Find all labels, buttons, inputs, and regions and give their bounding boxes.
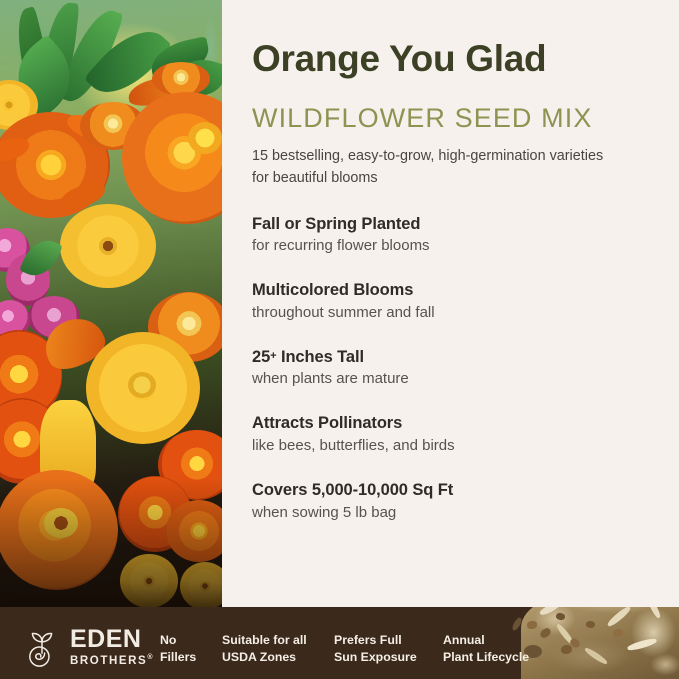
feature-item: Attracts Pollinators like bees, butterfl… bbox=[252, 414, 672, 456]
footer-item-line1: Suitable for all bbox=[222, 632, 307, 649]
footer-item-usda-zones: Suitable for all USDA Zones bbox=[222, 632, 307, 665]
footer-item-line2: USDA Zones bbox=[222, 649, 307, 666]
feature-title: Covers 5,000-10,000 Sq Ft bbox=[252, 481, 672, 501]
content-panel: Orange You Glad WILDFLOWER SEED MIX 15 b… bbox=[252, 0, 672, 522]
footer-soil-band: EDEN BROTHERS® No Fillers Suitable for a… bbox=[0, 607, 679, 679]
feature-item: Fall or Spring Planted for recurring flo… bbox=[252, 215, 672, 257]
seed bbox=[561, 645, 572, 654]
footer-item-no-fillers: No Fillers bbox=[160, 632, 196, 665]
feature-title: Attracts Pollinators bbox=[252, 414, 672, 434]
feature-subtitle: like bees, butterflies, and birds bbox=[252, 437, 672, 456]
flower-photo bbox=[0, 0, 222, 612]
page-title: Orange You Glad bbox=[252, 40, 672, 79]
logo-brand-secondary: BROTHERS® bbox=[70, 654, 154, 668]
footer-item-line1: Annual bbox=[443, 632, 529, 649]
logo-brand-secondary-text: BROTHERS bbox=[70, 655, 147, 667]
sprout-seedling-icon bbox=[22, 627, 62, 667]
feature-subtitle: when sowing 5 lb bag bbox=[252, 504, 672, 523]
feature-subtitle: when plants are mature bbox=[252, 370, 672, 389]
feature-item: 25+ Inches Tall when plants are mature bbox=[252, 348, 672, 390]
product-seed-mix-card: Orange You Glad WILDFLOWER SEED MIX 15 b… bbox=[0, 0, 679, 679]
registered-mark: ® bbox=[147, 654, 154, 661]
footer-item-line1: Prefers Full bbox=[334, 632, 417, 649]
footer-item-line2: Plant Lifecycle bbox=[443, 649, 529, 666]
photo-shadow bbox=[0, 0, 222, 612]
eden-brothers-logo[interactable]: EDEN BROTHERS® bbox=[22, 627, 154, 668]
footer-item-plant-lifecycle: Annual Plant Lifecycle bbox=[443, 632, 529, 665]
feature-title-number: 25 bbox=[252, 348, 270, 366]
feature-item: Covers 5,000-10,000 Sq Ft when sowing 5 … bbox=[252, 481, 672, 523]
footer-item-line2: Fillers bbox=[160, 649, 196, 666]
footer-item-line2: Sun Exposure bbox=[334, 649, 417, 666]
logo-wordmark: EDEN BROTHERS® bbox=[70, 627, 154, 668]
feature-item: Multicolored Blooms throughout summer an… bbox=[252, 281, 672, 323]
feature-title: 25+ Inches Tall bbox=[252, 348, 672, 368]
product-description: 15 bestselling, easy-to-grow, high-germi… bbox=[252, 146, 612, 189]
feature-title-rest: Inches Tall bbox=[276, 348, 363, 366]
feature-title: Multicolored Blooms bbox=[252, 281, 672, 301]
footer-item-sun-exposure: Prefers Full Sun Exposure bbox=[334, 632, 417, 665]
feature-subtitle: throughout summer and fall bbox=[252, 304, 672, 323]
seed-pile bbox=[509, 607, 679, 679]
feature-title: Fall or Spring Planted bbox=[252, 215, 672, 235]
seed bbox=[613, 629, 623, 637]
footer-item-line1: No bbox=[160, 632, 196, 649]
page-subtitle: WILDFLOWER SEED MIX bbox=[252, 104, 672, 134]
seed bbox=[527, 621, 537, 629]
logo-brand-primary: EDEN bbox=[70, 627, 154, 652]
seed-pile-mass bbox=[521, 607, 679, 679]
feature-subtitle: for recurring flower blooms bbox=[252, 237, 672, 256]
feature-list: Fall or Spring Planted for recurring flo… bbox=[252, 215, 672, 523]
